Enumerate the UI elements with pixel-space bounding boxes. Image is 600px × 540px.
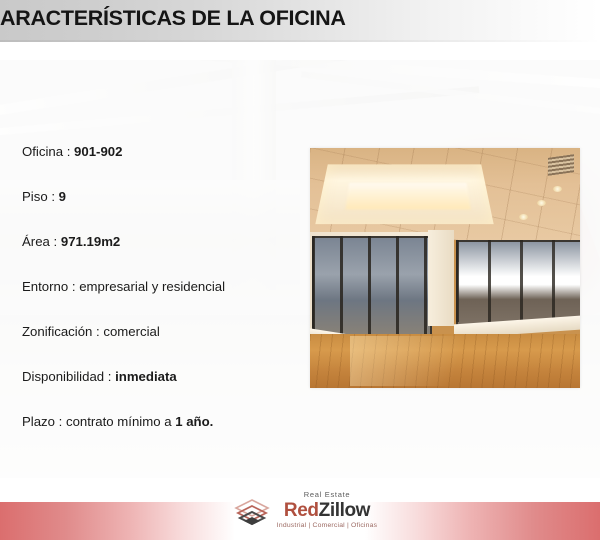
detail-label-piso: Piso : [22,189,59,204]
slide-canvas: ARACTERÍSTICAS DE LA OFICINA Oficina : 9… [0,0,600,540]
photo-downlight-3 [519,214,528,220]
detail-label-oficina: Oficina : [22,144,74,159]
office-details-list: Oficina : 901-902 Piso : 9 Área : 971.19… [22,144,302,459]
photo-downlight-1 [553,186,562,192]
page-title: ARACTERÍSTICAS DE LA OFICINA [0,6,346,31]
detail-label-disponibilidad: Disponibilidad : [22,369,115,384]
logo-word-dark: Zillow [319,500,370,521]
detail-row-oficina: Oficina : 901-902 [22,144,302,189]
logo-wordmark: RedZillow [275,500,379,521]
detail-row-area: Área : 971.19m2 [22,234,302,279]
detail-row-plazo: Plazo : contrato mínimo a 1 año. [22,414,302,459]
footer-ribbon-right [365,502,600,540]
photo-soffit-light [346,183,471,209]
detail-row-disponibilidad: Disponibilidad : inmediata [22,369,302,414]
detail-value-plazo: 1 año. [175,414,213,429]
detail-row-piso: Piso : 9 [22,189,302,234]
header-bar: ARACTERÍSTICAS DE LA OFICINA [0,0,600,42]
photo-air-vent [548,154,574,176]
footer-ribbon-left [0,502,235,540]
logo-text-block: Real Estate RedZillow Industrial | Comer… [275,490,379,530]
photo-corner-column [428,230,454,326]
detail-label-area: Área : [22,234,61,249]
logo-tagline-bottom: Industrial | Comercial | Oficinas [275,521,379,530]
brand-logo: Real Estate RedZillow Industrial | Comer… [233,490,378,536]
detail-label-plazo: Plazo : contrato mínimo a [22,414,175,429]
detail-value-zonificacion: comercial [103,324,159,339]
detail-value-disponibilidad: inmediata [115,369,177,384]
logo-word-red: Red [284,500,319,521]
logo-tagline-top: Real Estate [275,490,379,500]
detail-label-entorno: Entorno : [22,279,79,294]
detail-value-entorno: empresarial y residencial [79,279,225,294]
detail-value-area: 971.19m2 [61,234,120,249]
stacked-diamond-layers-icon [233,498,271,532]
detail-value-oficina: 901-902 [74,144,122,159]
office-interior-photo [310,148,580,388]
detail-value-piso: 9 [59,189,66,204]
detail-row-entorno: Entorno : empresarial y residencial [22,279,302,324]
photo-light-soffit [315,164,493,224]
detail-row-zonificacion: Zonificación : comercial [22,324,302,369]
photo-window-right-mullions [456,240,580,322]
photo-window-left-mullions [312,236,428,340]
photo-downlight-2 [537,200,546,206]
detail-label-zonificacion: Zonificación : [22,324,103,339]
photo-floor-reflection [350,336,500,386]
